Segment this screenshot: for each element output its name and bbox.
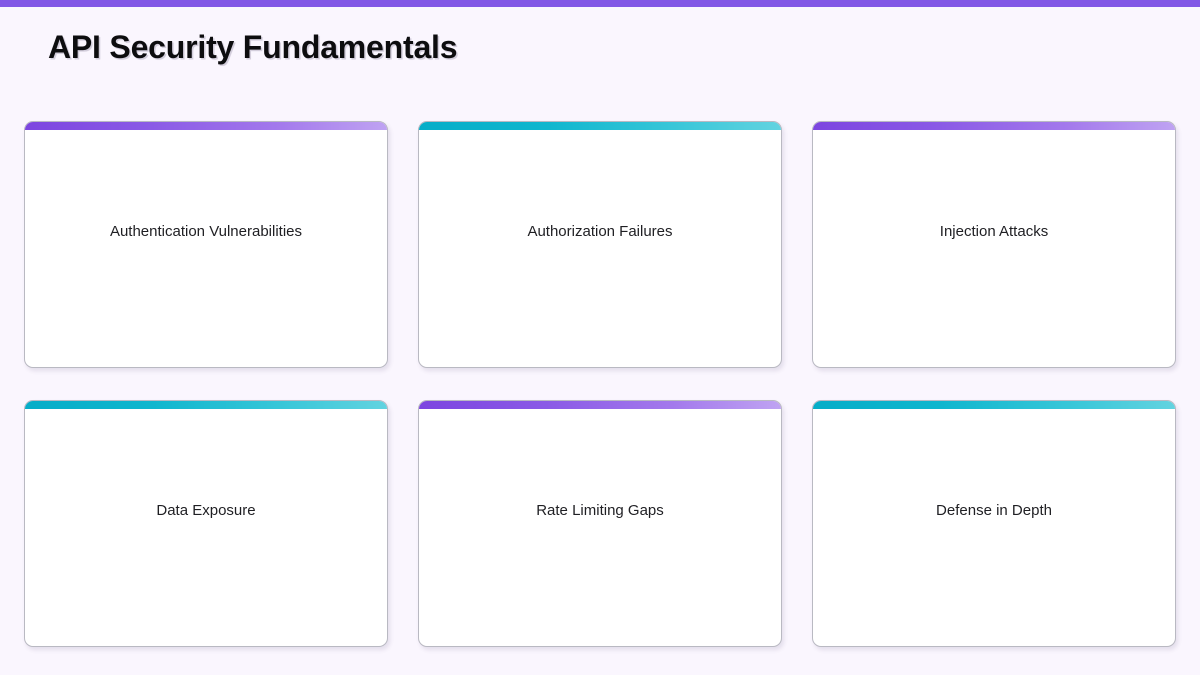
card-body	[419, 242, 781, 367]
card-title: Rate Limiting Gaps	[522, 502, 678, 521]
topic-card[interactable]: Authentication Vulnerabilities	[24, 121, 388, 368]
top-accent-bar	[0, 0, 1200, 7]
card-body	[813, 242, 1175, 367]
card-title: Injection Attacks	[926, 223, 1062, 242]
card-accent-bar	[25, 401, 387, 409]
card-body	[813, 521, 1175, 646]
card-accent-bar	[419, 122, 781, 130]
card-accent-bar	[25, 122, 387, 130]
topic-card[interactable]: Defense in Depth	[812, 400, 1176, 647]
card-accent-bar	[813, 122, 1175, 130]
card-title: Authorization Failures	[513, 223, 686, 242]
card-grid: Authentication Vulnerabilities Authoriza…	[24, 121, 1176, 647]
page-title: API Security Fundamentals	[48, 29, 457, 66]
card-body	[419, 521, 781, 646]
topic-card[interactable]: Data Exposure	[24, 400, 388, 647]
card-accent-bar	[419, 401, 781, 409]
topic-card[interactable]: Authorization Failures	[418, 121, 782, 368]
card-title: Defense in Depth	[922, 502, 1066, 521]
card-body	[25, 521, 387, 646]
topic-card[interactable]: Rate Limiting Gaps	[418, 400, 782, 647]
card-title: Authentication Vulnerabilities	[96, 223, 316, 242]
card-body	[25, 242, 387, 367]
card-accent-bar	[813, 401, 1175, 409]
card-title: Data Exposure	[142, 502, 269, 521]
topic-card[interactable]: Injection Attacks	[812, 121, 1176, 368]
